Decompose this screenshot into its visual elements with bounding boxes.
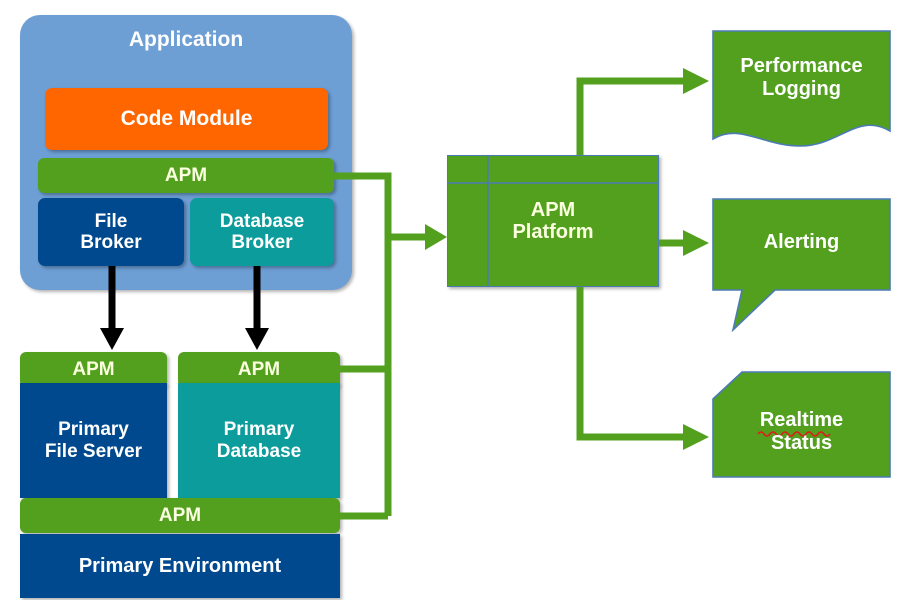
apm-ingest-connector bbox=[334, 176, 430, 516]
platform-output-connectors bbox=[580, 81, 688, 437]
realtime-status-shape bbox=[713, 372, 890, 477]
arrow-head-alerting bbox=[683, 230, 709, 256]
diagram-canvas: Application Code Module APM File Broker … bbox=[0, 0, 913, 600]
apm-platform-grid-lines bbox=[448, 156, 658, 286]
performance-logging-shape bbox=[713, 31, 890, 146]
arrow-head-database-broker bbox=[245, 328, 269, 350]
connectors-and-shapes-layer bbox=[0, 0, 913, 600]
arrow-head-realtime-status bbox=[683, 424, 709, 450]
broker-to-server-arrows bbox=[112, 266, 257, 330]
arrow-head-file-broker bbox=[100, 328, 124, 350]
arrow-head-to-platform bbox=[425, 224, 447, 250]
alerting-shape bbox=[713, 199, 890, 330]
arrow-head-performance-logging bbox=[683, 68, 709, 94]
